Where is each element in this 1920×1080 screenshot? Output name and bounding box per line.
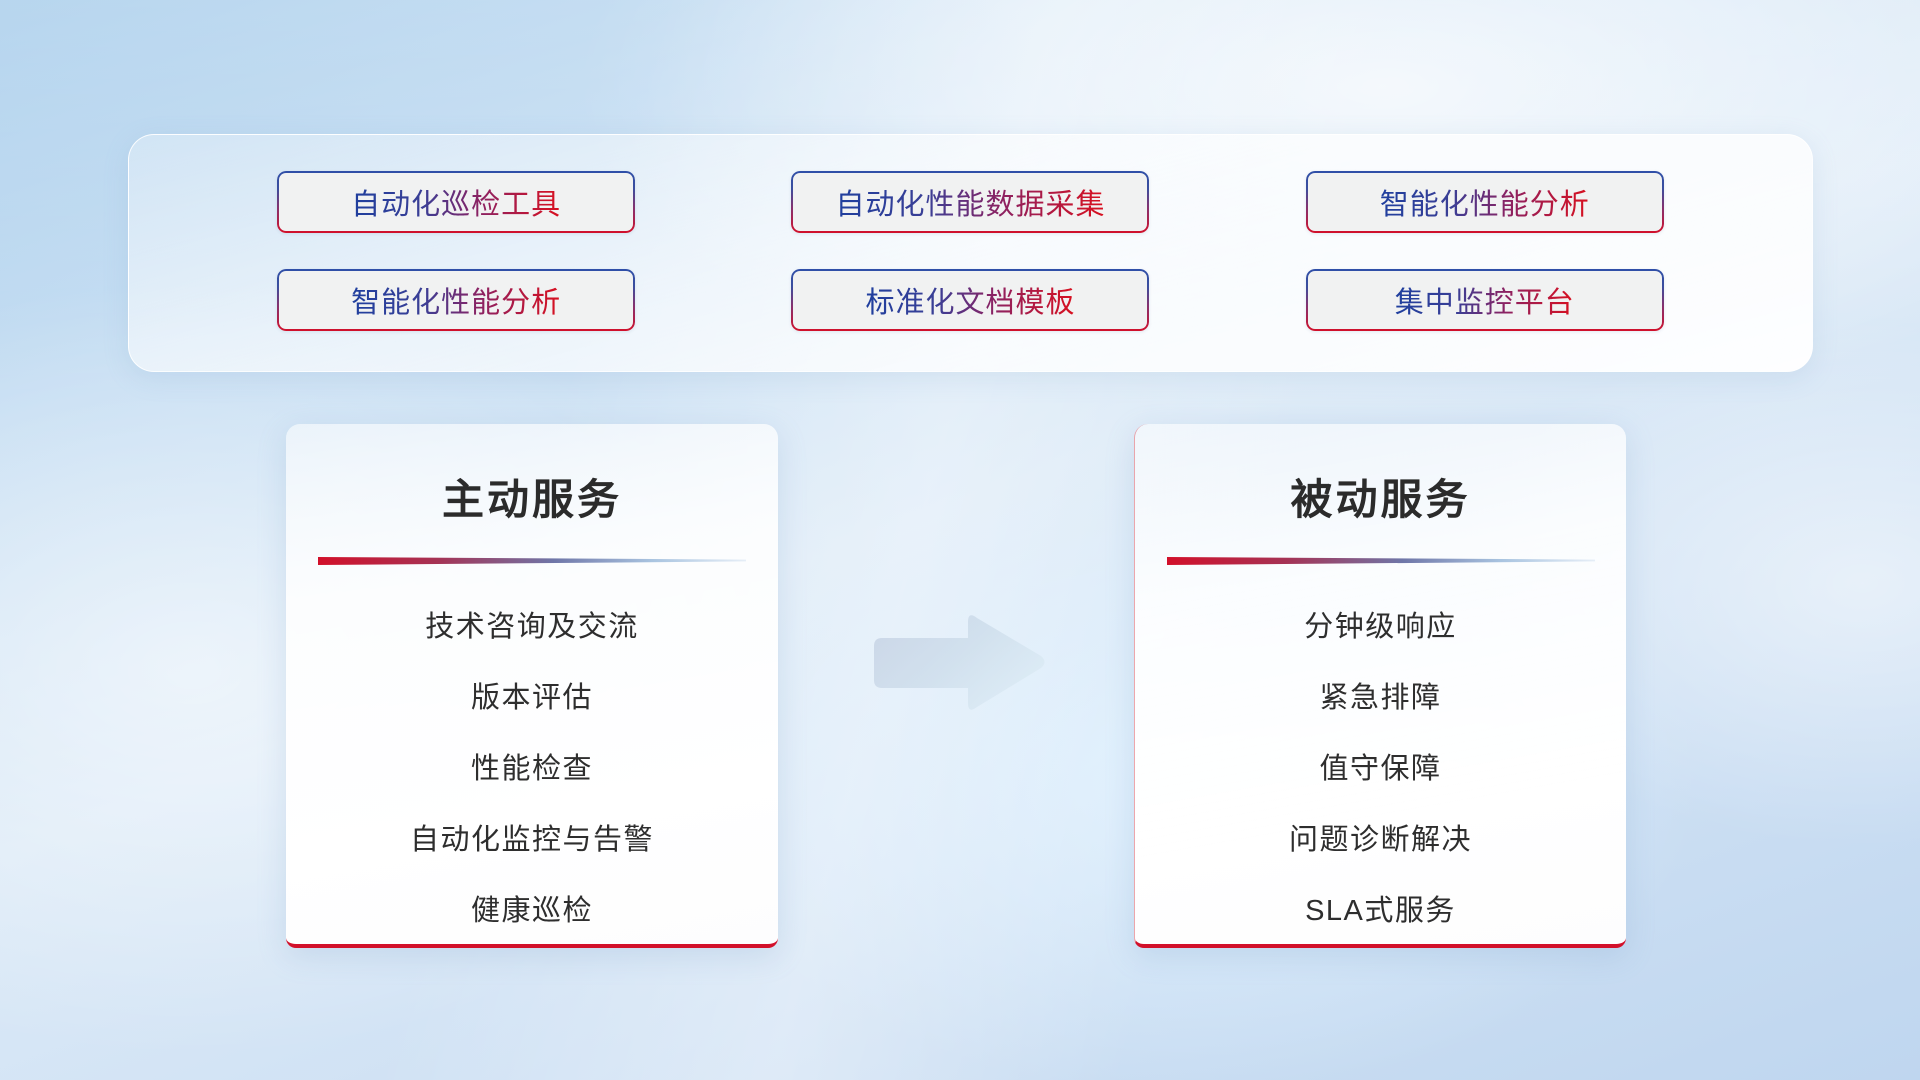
service-item-list: 技术咨询及交流 版本评估 性能检查 自动化监控与告警 健康巡检 <box>286 592 778 947</box>
service-item: 版本评估 <box>286 663 778 734</box>
service-item: 问题诊断解决 <box>1135 805 1626 876</box>
capability-pill-label: 标准化文档模板 <box>865 279 1075 321</box>
capability-pill-4[interactable]: 智能化性能分析 <box>277 269 635 331</box>
service-item: 性能检查 <box>286 734 778 805</box>
card-title: 被动服务 <box>1135 466 1626 527</box>
capability-pill-label: 智能化性能分析 <box>351 279 561 321</box>
arrow-right-icon <box>868 608 1048 718</box>
service-item: 自动化监控与告警 <box>286 805 778 876</box>
service-item: 紧急排障 <box>1135 663 1626 734</box>
capability-pill-3[interactable]: 智能化性能分析 <box>1306 171 1664 233</box>
capability-panel: 自动化巡检工具 自动化性能数据采集 智能化性能分析 智能化性能分析 标准化文档模… <box>128 134 1813 372</box>
card-divider <box>318 555 746 566</box>
capability-pill-2[interactable]: 自动化性能数据采集 <box>791 171 1149 233</box>
service-card-reactive: 被动服务 分钟级响应 紧急排障 值守保障 问题诊断解决 SLA式服务 <box>1134 424 1626 948</box>
capability-grid: 自动化巡检工具 自动化性能数据采集 智能化性能分析 智能化性能分析 标准化文档模… <box>129 135 1812 371</box>
service-card-proactive: 主动服务 技术咨询及交流 版本评估 性能检查 自动化监控与告警 健康巡检 <box>286 424 778 948</box>
capability-pill-6[interactable]: 集中监控平台 <box>1306 269 1664 331</box>
card-divider <box>1167 555 1595 566</box>
card-title: 主动服务 <box>286 466 778 527</box>
service-item: SLA式服务 <box>1135 876 1626 947</box>
capability-pill-label: 集中监控平台 <box>1395 279 1575 321</box>
capability-pill-label: 自动化巡检工具 <box>351 181 561 223</box>
service-item: 分钟级响应 <box>1135 592 1626 663</box>
capability-pill-5[interactable]: 标准化文档模板 <box>791 269 1149 331</box>
capability-pill-label: 智能化性能分析 <box>1380 181 1590 223</box>
capability-pill-1[interactable]: 自动化巡检工具 <box>277 171 635 233</box>
service-item: 健康巡检 <box>286 876 778 947</box>
service-item: 技术咨询及交流 <box>286 592 778 663</box>
capability-pill-label: 自动化性能数据采集 <box>835 181 1105 223</box>
service-item-list: 分钟级响应 紧急排障 值守保障 问题诊断解决 SLA式服务 <box>1135 592 1626 947</box>
service-item: 值守保障 <box>1135 734 1626 805</box>
